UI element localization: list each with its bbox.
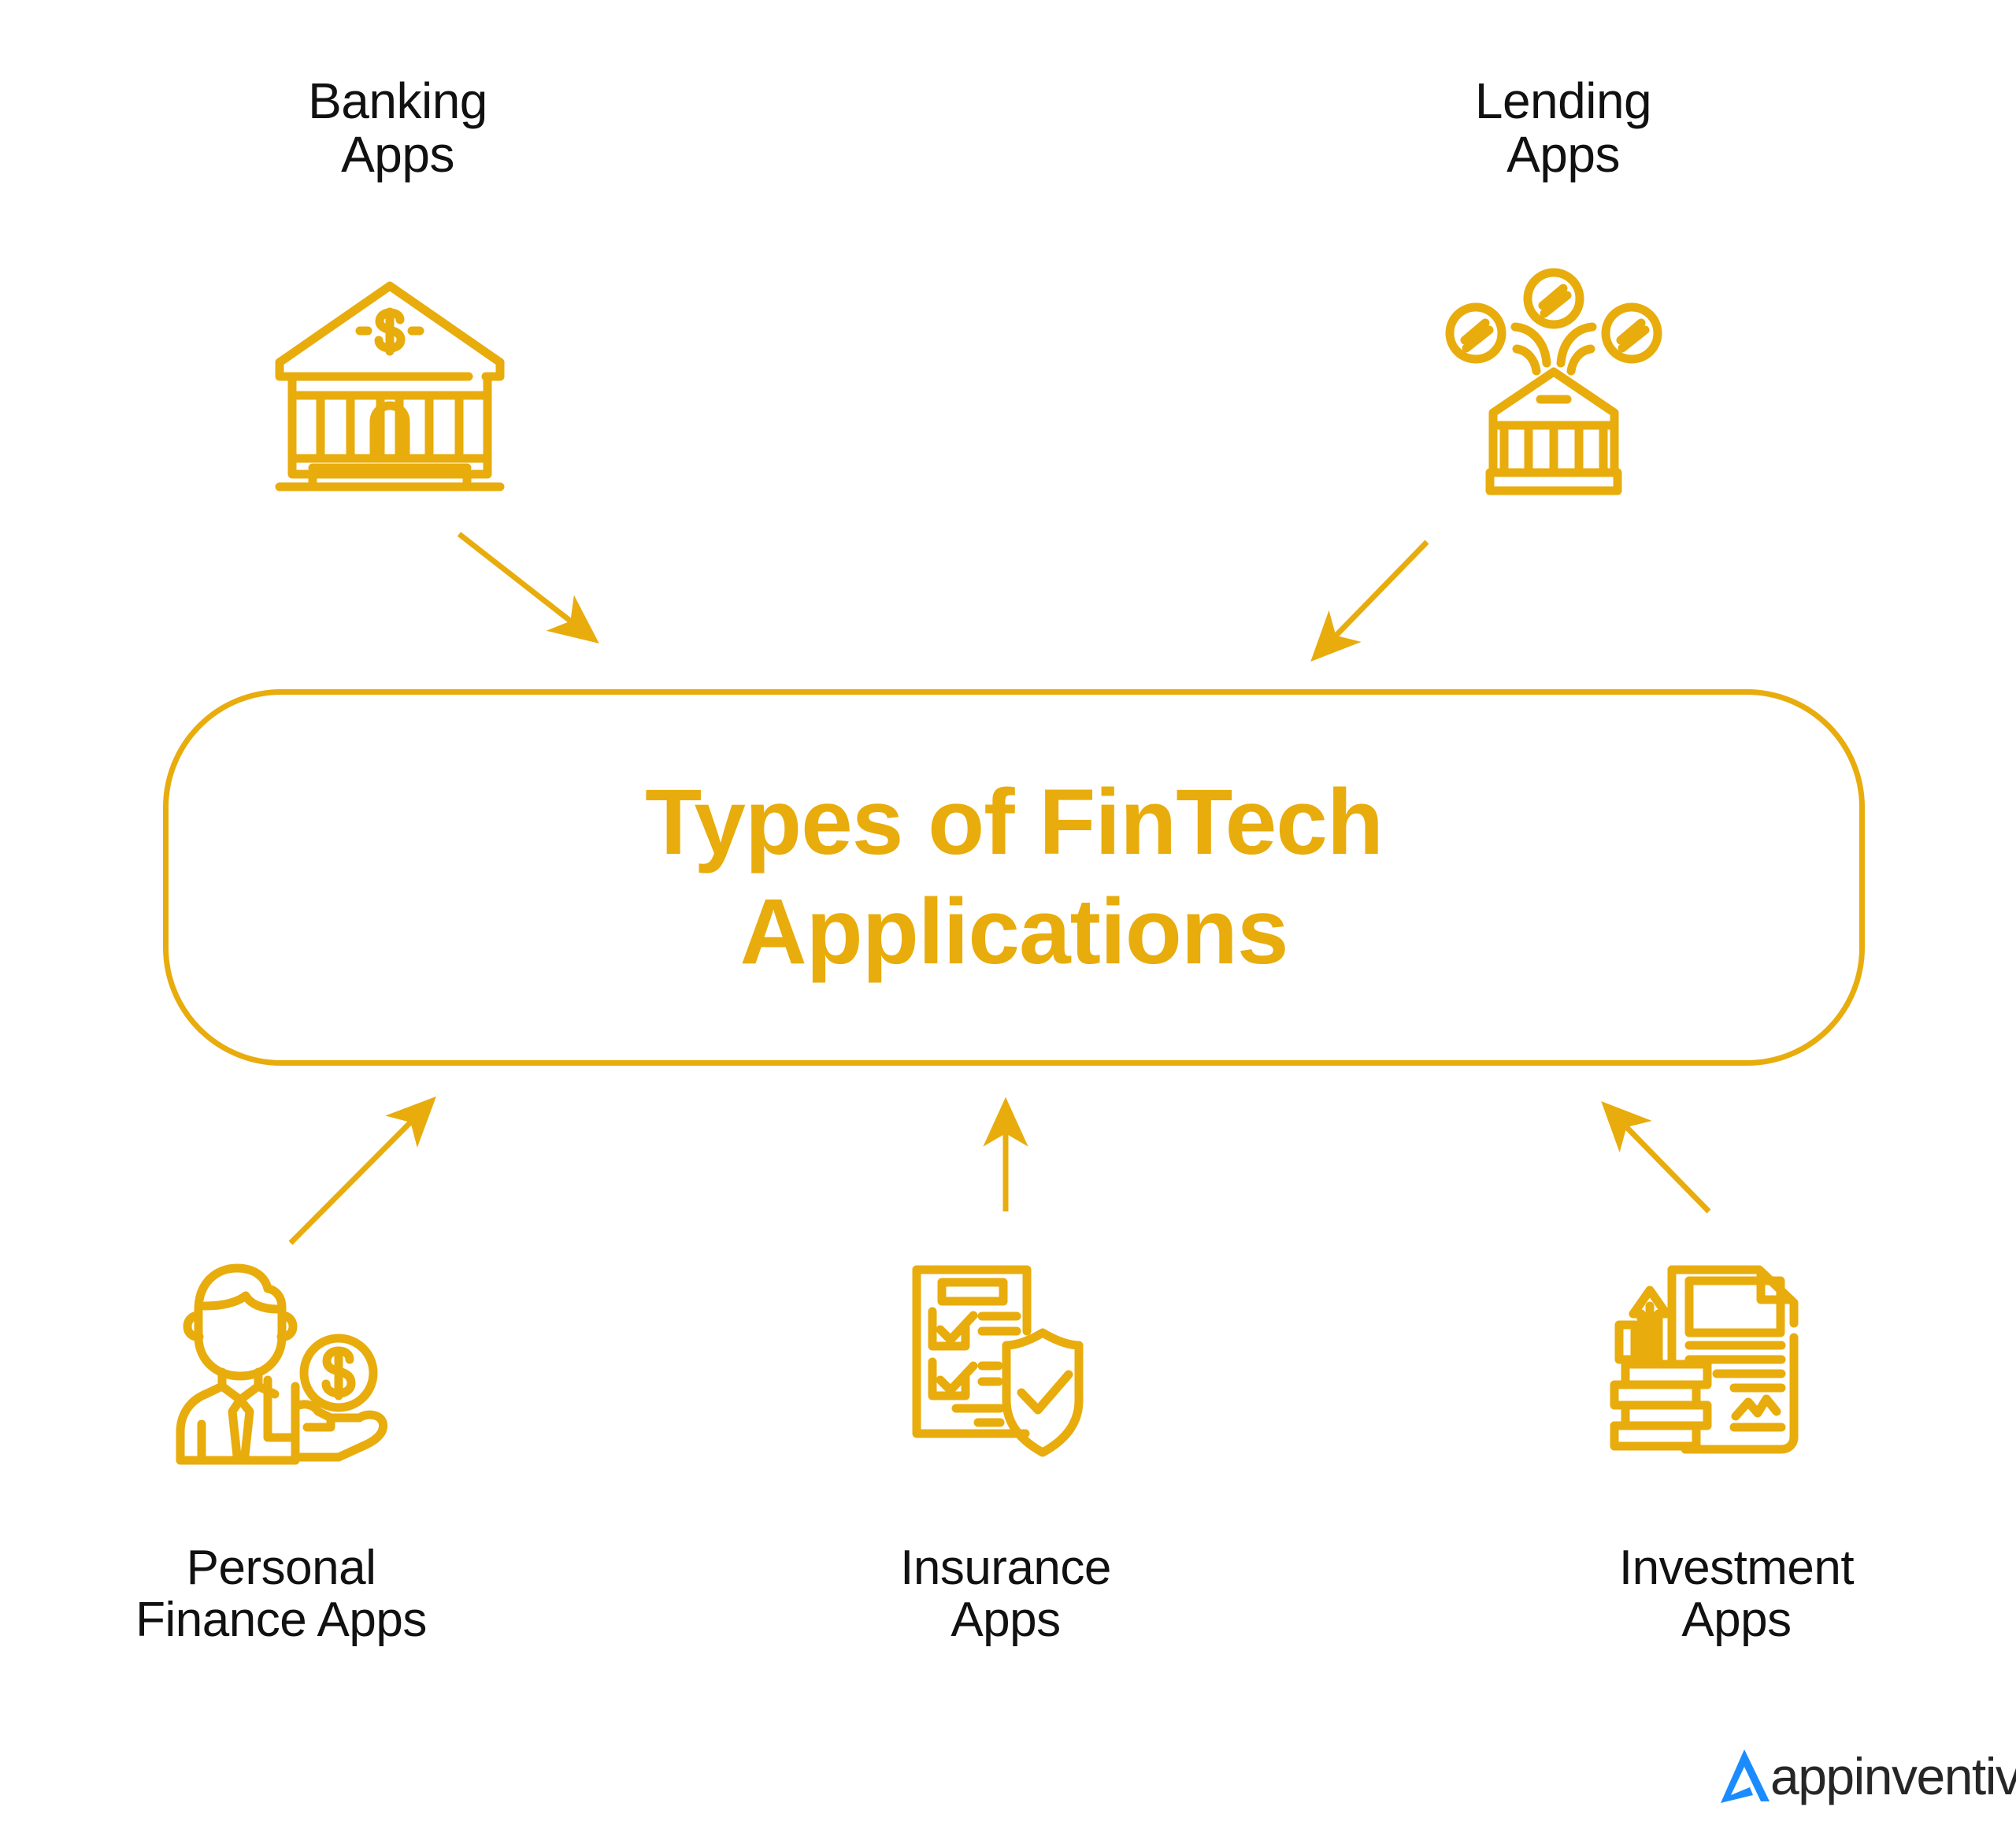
page-title: Types of FinTech Applications (645, 768, 1383, 987)
advisor-with-coin-icon (167, 1260, 395, 1473)
bank-building-dollar-icon (272, 276, 508, 504)
node-label-lending: Lending Apps (1366, 75, 1760, 182)
diagram-canvas: Banking Apps (0, 0, 2016, 1840)
arrow-investment-to-center (1607, 1107, 1709, 1211)
logo-wordmark: appinventiv (1770, 1750, 2016, 1802)
appinventiv-logo[interactable]: appinventiv (1715, 1742, 1975, 1810)
a-triangle-icon (1715, 1746, 1773, 1806)
node-label-banking: Banking Apps (201, 75, 595, 182)
coins-chart-document-icon (1606, 1262, 1819, 1473)
checklist-shield-icon (907, 1262, 1112, 1473)
arrow-lending-to-center (1317, 542, 1427, 655)
node-label-investment: Investment Apps (1520, 1542, 1953, 1645)
arrow-personal-finance-to-center (291, 1103, 430, 1243)
node-label-personal-finance: Personal Finance Apps (45, 1542, 517, 1645)
node-label-insurance: Insurance Apps (809, 1542, 1203, 1645)
center-hub-card: Types of FinTech Applications (163, 689, 1865, 1066)
bank-with-coins-icon (1440, 264, 1668, 500)
arrow-banking-to-center (459, 534, 592, 638)
